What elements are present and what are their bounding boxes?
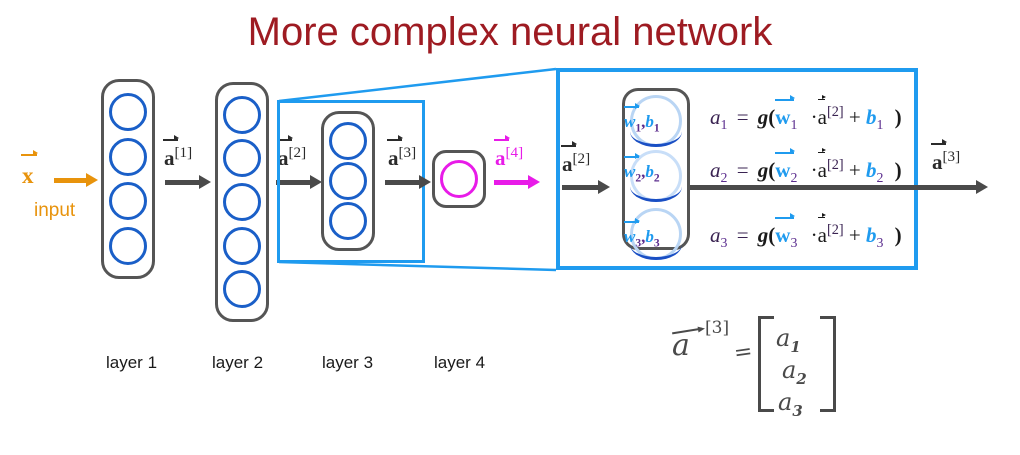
eq-weight-sub: 2	[790, 170, 797, 185]
eq-plus: +	[849, 158, 861, 182]
neuron[interactable]	[223, 139, 261, 177]
detail-input-label: a[2]	[562, 152, 590, 175]
right-arrow-icon	[598, 180, 610, 194]
input-vector-symbol: x	[22, 164, 34, 187]
bracket-left-icon	[758, 316, 774, 412]
hv-entry-1: a1	[776, 324, 801, 356]
eq-bias: b	[866, 158, 877, 182]
eq-lhs-sub: 2	[721, 170, 728, 185]
arrow-shaft	[494, 180, 528, 185]
bias-subscript: 2	[654, 171, 660, 184]
right-arrow-icon	[976, 180, 988, 194]
activation-symbol: a	[388, 148, 399, 169]
eq-close-paren: )	[889, 223, 902, 247]
eq-close-paren: )	[889, 158, 902, 182]
arrow-shaft	[690, 185, 976, 190]
right-arrow-icon	[419, 175, 431, 189]
bias-subscript: 1	[654, 121, 660, 134]
detail-output-symbol: a	[932, 152, 943, 173]
detail-input-symbol: a	[562, 154, 573, 175]
input-vector-label: x	[22, 164, 34, 187]
eq-activation-fn: g	[758, 223, 769, 247]
layer-4-label: layer 4	[434, 353, 485, 373]
eq-weight-sub: 1	[790, 117, 797, 132]
eq-dot: ·	[803, 223, 818, 247]
neuron[interactable]	[223, 96, 261, 134]
neuron[interactable]	[223, 270, 261, 308]
detail-output-label: a[3]	[932, 150, 960, 173]
activation-superscript: [1]	[175, 145, 193, 161]
neuron[interactable]	[329, 162, 367, 200]
eq-activation-fn: g	[758, 105, 769, 129]
neuron[interactable]	[223, 227, 261, 265]
activation-label-a4: a[4]	[495, 146, 523, 169]
neuron[interactable]	[109, 93, 147, 131]
equation-row-1: a1 = g(w1 ·a[2] + b1 )	[710, 105, 902, 132]
neuron[interactable]	[109, 182, 147, 220]
hv-entry-sub: 2	[796, 370, 806, 388]
detail-params-label-1: w1,b1	[624, 113, 660, 134]
detail-params-label-3: w3,b3	[624, 228, 660, 249]
neuron[interactable]	[223, 183, 261, 221]
activation-label-a1: a[1]	[164, 146, 192, 169]
arrow-shaft	[54, 178, 86, 183]
right-arrow-icon	[199, 175, 211, 189]
activation-superscript: [4]	[506, 145, 524, 161]
eq-weight: w	[775, 225, 790, 246]
bias-symbol: b	[645, 227, 654, 246]
eq-plus: +	[849, 105, 861, 129]
page-title: More complex neural network	[0, 8, 1020, 56]
detail-input-superscript: [2]	[573, 151, 591, 167]
detail-params-label-2: w2,b2	[624, 163, 660, 184]
slide-canvas: More complex neural network x input laye…	[0, 0, 1020, 455]
eq-weight: w	[775, 107, 790, 128]
eq-lhs-sub: 3	[721, 235, 728, 250]
equation-row-3: a3 = g(w3 ·a[2] + b3 )	[710, 223, 902, 250]
hv-entry-3: a3	[778, 388, 803, 420]
eq-bias-sub: 2	[876, 170, 883, 185]
handwritten-vector-annotation: a [3] = a1 a2 a3	[672, 310, 872, 430]
hv-entry-sub: 3	[792, 402, 802, 420]
neuron[interactable]	[329, 122, 367, 160]
eq-bias-sub: 1	[876, 117, 883, 132]
bias-symbol: b	[645, 162, 654, 181]
layer-2-label: layer 2	[212, 353, 263, 373]
activation-symbol: a	[164, 148, 175, 169]
layer-2-box[interactable]	[215, 82, 269, 322]
eq-sign: =	[733, 158, 753, 182]
eq-sign: =	[733, 223, 753, 247]
weight-symbol: w	[624, 163, 635, 180]
right-arrow-icon	[86, 173, 98, 187]
neuron[interactable]	[109, 227, 147, 265]
bracket-right-icon	[820, 316, 836, 412]
hv-entry-sub: 1	[790, 338, 800, 356]
eq-open-paren: (	[768, 158, 775, 182]
eq-input-activation: a	[818, 225, 827, 246]
arrow-shaft	[562, 185, 598, 190]
hv-equals-sign: =	[732, 339, 754, 366]
hv-entry-2: a2	[782, 356, 807, 388]
layer-4-box[interactable]	[432, 150, 486, 208]
eq-lhs-sub: 1	[721, 117, 728, 132]
eq-input-activation: a	[818, 160, 827, 181]
eq-weight-sub: 3	[790, 235, 797, 250]
eq-sign: =	[733, 105, 753, 129]
layer-3-label: layer 3	[322, 353, 373, 373]
layer-3-box[interactable]	[321, 111, 375, 251]
eq-bias-sub: 3	[876, 235, 883, 250]
neuron[interactable]	[329, 202, 367, 240]
detail-output-superscript: [3]	[943, 149, 961, 165]
activation-superscript: [3]	[399, 145, 417, 161]
eq-bias: b	[866, 105, 877, 129]
weight-symbol: w	[624, 228, 635, 245]
eq-lhs: a	[710, 223, 721, 247]
eq-close-paren: )	[889, 105, 902, 129]
hv-entry-base: a	[782, 356, 796, 384]
eq-open-paren: (	[768, 223, 775, 247]
layer-1-label: layer 1	[106, 353, 157, 373]
eq-lhs: a	[710, 105, 721, 129]
eq-plus: +	[849, 223, 861, 247]
neuron[interactable]	[109, 138, 147, 176]
right-arrow-icon	[528, 175, 540, 189]
bias-symbol: b	[645, 112, 654, 131]
eq-lhs: a	[710, 158, 721, 182]
activation-symbol: a	[495, 148, 506, 169]
activation-label-a3: a[3]	[388, 146, 416, 169]
equation-row-2: a2 = g(w2 ·a[2] + b2 )	[710, 158, 902, 185]
eq-dot: ·	[803, 105, 818, 129]
eq-open-paren: (	[768, 105, 775, 129]
layer-1-box[interactable]	[101, 79, 155, 279]
eq-input-activation: a	[818, 107, 827, 128]
eq-activation-fn: g	[758, 158, 769, 182]
hv-superscript: [3]	[705, 318, 729, 338]
arrow-shaft	[385, 180, 419, 185]
bias-subscript: 3	[654, 236, 660, 249]
arrow-shaft	[165, 180, 199, 185]
hv-entry-base: a	[776, 324, 790, 352]
neuron-output[interactable]	[440, 160, 478, 198]
hv-entry-base: a	[778, 388, 792, 416]
eq-bias: b	[866, 223, 877, 247]
weight-symbol: w	[624, 113, 635, 130]
input-word-label: input	[34, 200, 75, 222]
eq-input-sup: [2]	[827, 157, 844, 173]
eq-input-sup: [2]	[827, 104, 844, 120]
eq-dot: ·	[803, 158, 818, 182]
eq-input-sup: [2]	[827, 222, 844, 238]
hv-symbol-wrap: a	[672, 328, 690, 363]
eq-weight: w	[775, 160, 790, 181]
